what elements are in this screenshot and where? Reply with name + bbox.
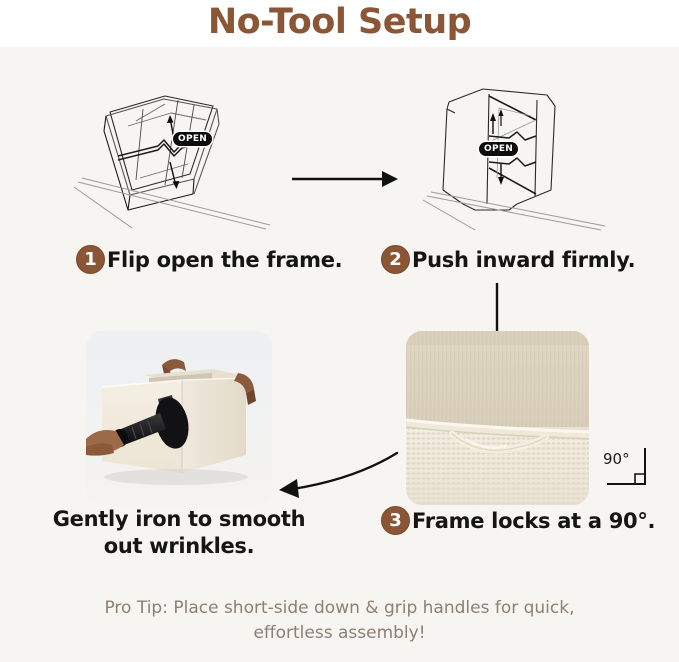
open-tag-step-2: OPEN: [479, 142, 518, 156]
upright-basket-line-drawing: [405, 82, 635, 232]
steaming-basket-photo: [86, 331, 272, 505]
pro-tip-line-2: effortless assembly!: [50, 621, 629, 646]
step-3-photo-fabric-corner: [406, 331, 589, 505]
curved-left-arrow-icon: [275, 445, 405, 505]
angle-indicator: 90°: [603, 446, 655, 490]
step-1-label: Flip open the frame.: [107, 248, 342, 272]
step-1-badge: 1: [76, 245, 105, 274]
connector-step2-to-step3: [492, 283, 502, 331]
header-band: No-Tool Setup: [0, 0, 679, 47]
arrow-step1-to-step2: [290, 166, 400, 192]
step-4-label-line-1: Gently iron to smooth: [38, 506, 320, 533]
pro-tip-line-1: Pro Tip: Place short-side down & grip ha…: [50, 596, 629, 621]
step-3-label: Frame locks at a 90°.: [412, 509, 655, 533]
fabric-corner-closeup-photo: [406, 331, 589, 505]
step-3-caption: 3 Frame locks at a 90°.: [381, 506, 655, 535]
infographic-canvas: No-Tool Setup: [0, 0, 679, 662]
pro-tip: Pro Tip: Place short-side down & grip ha…: [50, 596, 629, 645]
page-title: No-Tool Setup: [208, 5, 471, 40]
arrow-step3-to-step4: [275, 445, 405, 505]
step-3-badge: 3: [381, 506, 410, 535]
step-4-caption: Gently iron to smooth out wrinkles.: [38, 506, 320, 560]
step-4-label-line-2: out wrinkles.: [38, 533, 320, 560]
folded-basket-line-drawing: [70, 82, 300, 232]
open-tag-step-1: OPEN: [173, 132, 212, 146]
step-2-label: Push inward firmly.: [412, 248, 635, 272]
step-4-photo-steaming-basket: [86, 331, 272, 505]
step-2-caption: 2 Push inward firmly.: [381, 245, 635, 274]
step-2-illustration: OPEN: [405, 82, 635, 232]
vertical-line-icon: [492, 283, 502, 331]
step-2-badge: 2: [381, 245, 410, 274]
right-arrow-icon: [290, 166, 400, 192]
step-1-caption: 1 Flip open the frame.: [76, 245, 342, 274]
right-angle-icon: [603, 446, 655, 490]
step-1-illustration: OPEN: [70, 82, 300, 232]
